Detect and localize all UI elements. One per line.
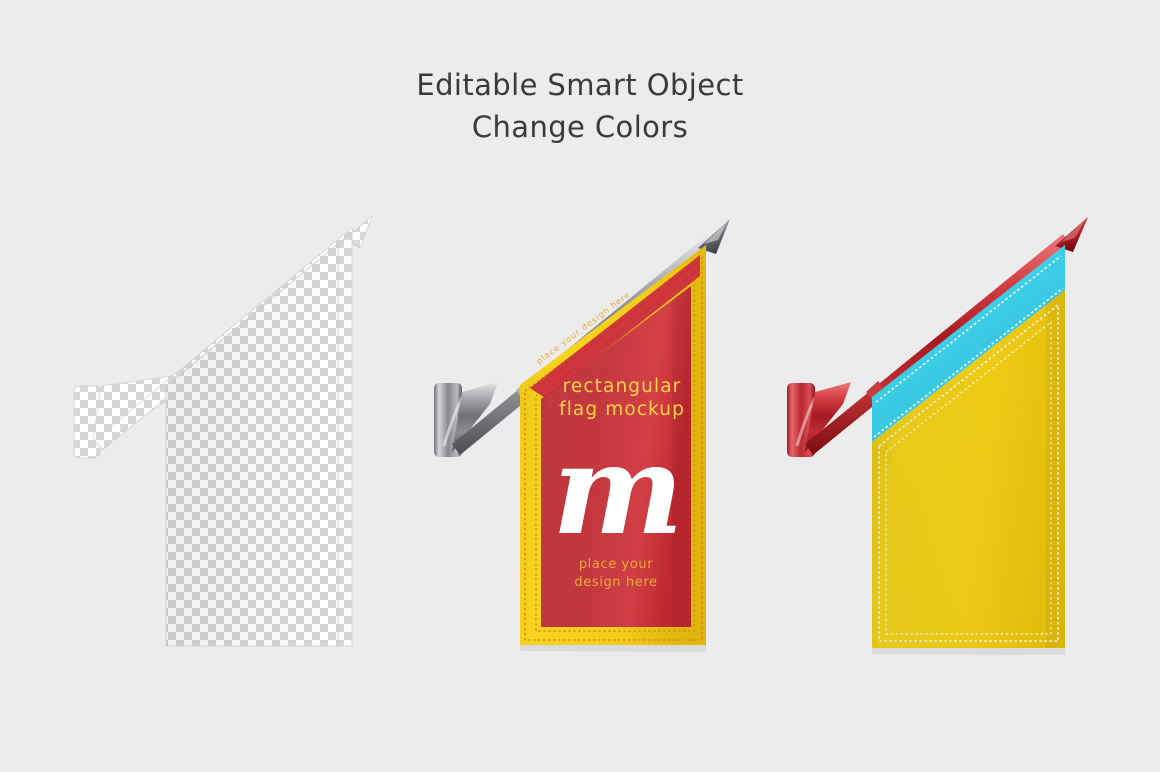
flags-scene: place your design here rectangular flag … [0, 0, 1160, 772]
flag-unit-yellow[interactable] [787, 217, 1088, 655]
flag-footer-line-2-red-flag: design here [574, 575, 657, 590]
flag-footer-line-1-red-flag: place your [579, 557, 653, 572]
flag-drop-shadow-yellow-flag [872, 648, 1065, 655]
flag-fold-shade-yellow-flag [1046, 290, 1065, 648]
flag-unit-transparent[interactable] [74, 216, 372, 646]
flag-drop-shadow-red-flag [520, 645, 706, 652]
flag-unit-red[interactable]: place your design here rectangular flag … [434, 219, 730, 652]
mockup-canvas: Editable Smart Object Change Colors [0, 0, 1160, 772]
flag-logo-red-flag: m [552, 418, 683, 563]
flag-title-line-1-red-flag: rectangular [563, 376, 682, 397]
flag-title-line-2-red-flag: flag mockup [559, 399, 685, 420]
flag-cloth-shading-transparent [166, 232, 352, 646]
